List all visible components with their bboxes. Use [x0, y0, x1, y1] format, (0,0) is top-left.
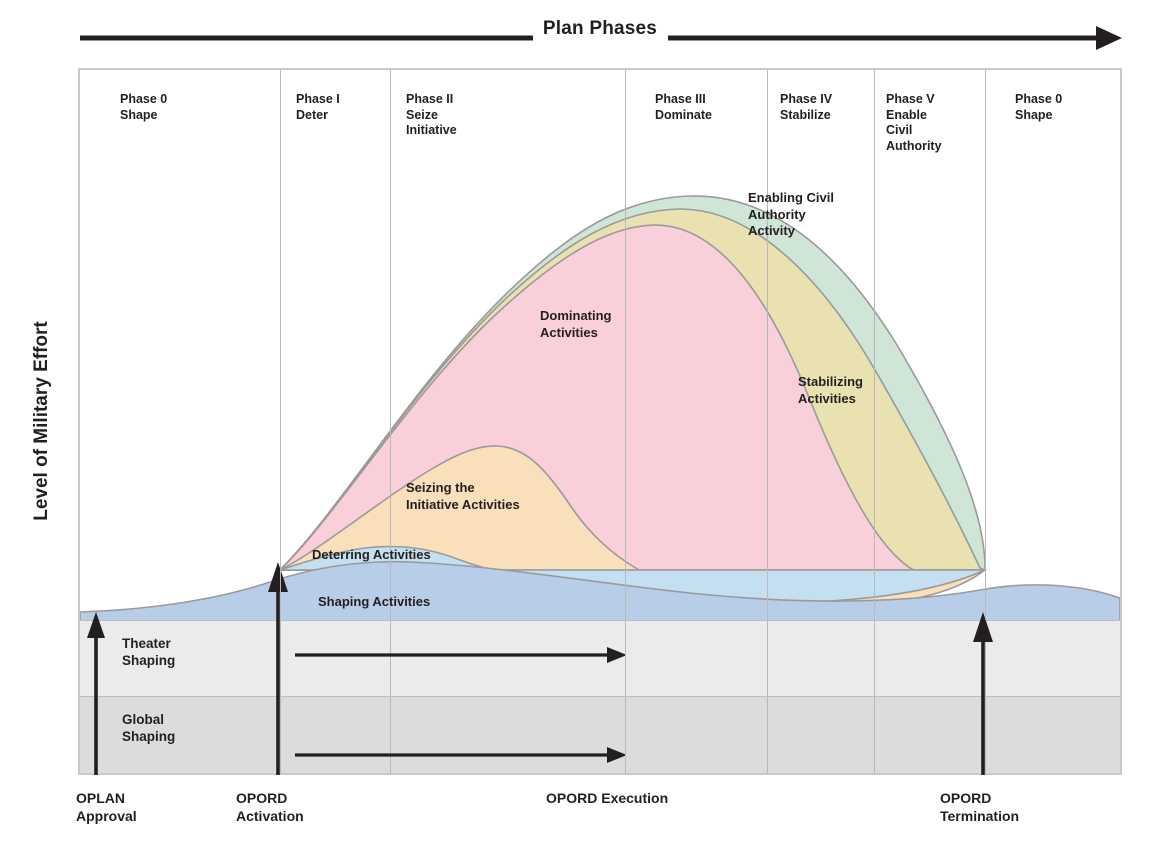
- phase-header-1: Phase I Deter: [296, 92, 340, 123]
- area-curves-svg: [80, 70, 1120, 620]
- band-divider-3: [625, 621, 626, 696]
- plan-phases-diagram: Plan Phases Level of Military Effort: [0, 0, 1166, 864]
- page-title: Plan Phases: [543, 18, 657, 40]
- curve-label-seizing-initiative: Seizing the Initiative Activities: [406, 480, 520, 513]
- phase-header-3: Phase III Dominate: [655, 92, 712, 123]
- phase-header-0: Phase 0 Shape: [120, 92, 167, 123]
- chart-frame: Phase 0 Shape Phase I Deter Phase II Sei…: [78, 68, 1122, 775]
- milestone-label-opord-termination: OPORD Termination: [940, 790, 1019, 825]
- phase-header-5: Phase V Enable Civil Authority: [886, 92, 942, 154]
- phase-divider-1: [280, 70, 281, 620]
- curve-label-dominating: Dominating Activities: [540, 308, 612, 341]
- milestone-label-opord-execution: OPORD Execution: [546, 790, 668, 808]
- band-divider-5: [874, 621, 875, 696]
- milestone-label-opord-activation: OPORD Activation: [236, 790, 304, 825]
- band-theater-shaping-label: Theater Shaping: [122, 635, 175, 669]
- band-divider-11: [874, 697, 875, 773]
- band-divider-7: [280, 697, 281, 773]
- band-divider-10: [767, 697, 768, 773]
- plan-phases-arrow-band: Plan Phases: [78, 18, 1122, 58]
- curve-label-shaping: Shaping Activities: [318, 594, 430, 611]
- band-divider-9: [625, 697, 626, 773]
- phase-divider-4: [767, 70, 768, 620]
- milestone-label-oplan-approval: OPLAN Approval: [76, 790, 137, 825]
- phase-divider-6: [985, 70, 986, 620]
- phase-divider-3: [625, 70, 626, 620]
- phase-divider-5: [874, 70, 875, 620]
- curve-label-enabling-civil-authority: Enabling Civil Authority Activity: [748, 190, 834, 240]
- y-axis-label: Level of Military Effort: [31, 271, 53, 571]
- global-shaping-arrow-icon: [295, 745, 625, 765]
- band-divider-12: [985, 697, 986, 773]
- phase-header-4: Phase IV Stabilize: [780, 92, 832, 123]
- band-theater-shaping: Theater Shaping: [80, 620, 1120, 696]
- band-divider-1: [280, 621, 281, 696]
- band-divider-4: [767, 621, 768, 696]
- curve-label-deterring: Deterring Activities: [312, 547, 431, 564]
- phase-header-6: Phase 0 Shape: [1015, 92, 1062, 123]
- plot-area: Phase 0 Shape Phase I Deter Phase II Sei…: [80, 70, 1120, 620]
- theater-shaping-arrow-icon: [295, 645, 625, 665]
- band-global-shaping-label: Global Shaping: [122, 711, 175, 745]
- curve-label-stabilizing: Stabilizing Activities: [798, 374, 863, 407]
- right-arrow-icon: [1096, 26, 1122, 50]
- band-divider-6: [985, 621, 986, 696]
- band-global-shaping: Global Shaping: [80, 696, 1120, 773]
- phase-divider-2: [390, 70, 391, 620]
- phase-header-2: Phase II Seize Initiative: [406, 92, 457, 139]
